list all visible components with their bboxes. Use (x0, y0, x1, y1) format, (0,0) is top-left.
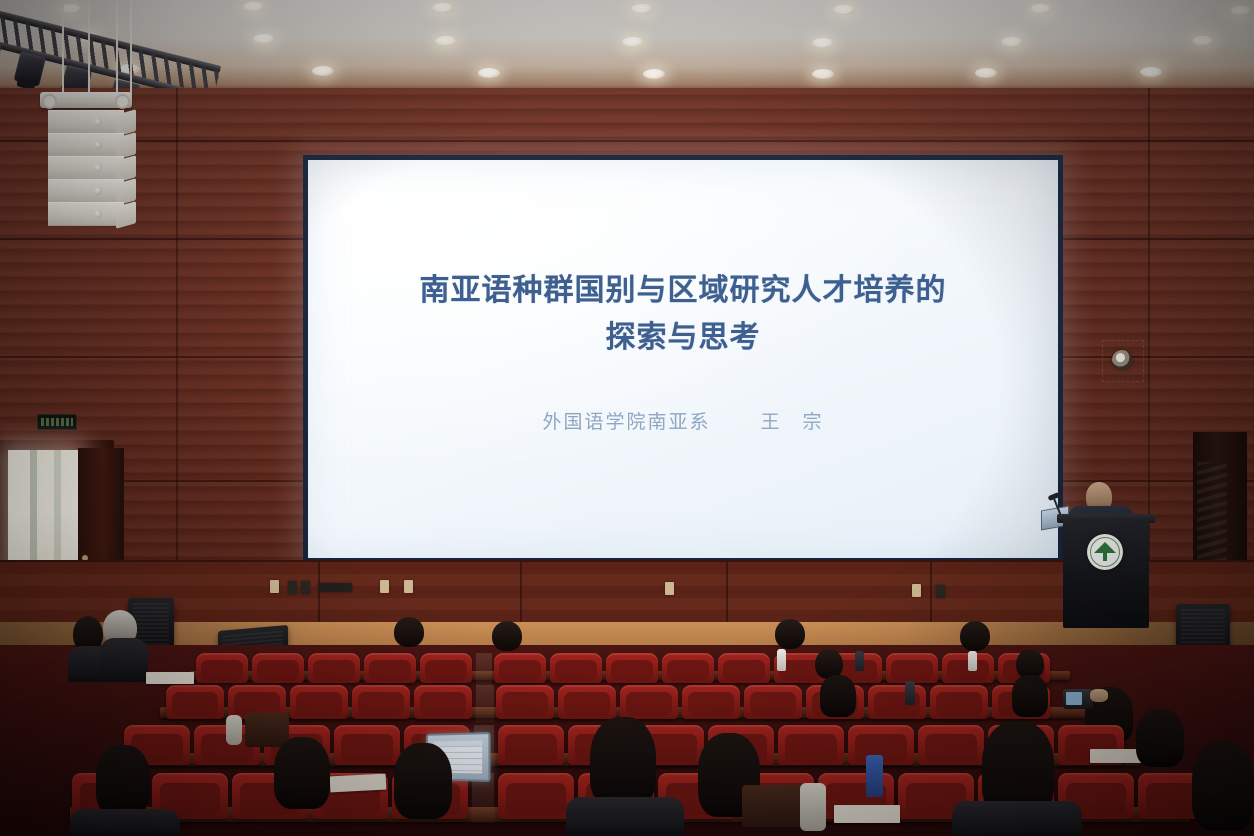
handheld-camera[interactable] (1063, 689, 1093, 709)
cloth-item (800, 783, 826, 831)
speaker-rigging-wire (88, 0, 90, 96)
wall-speaker-icon (1112, 350, 1132, 370)
theater-seat (496, 685, 554, 719)
handbag (245, 713, 289, 747)
theater-seat (420, 653, 472, 683)
aisle (476, 685, 494, 723)
audience-head (960, 621, 990, 651)
recessed-downlight (631, 4, 653, 14)
theater-seat (930, 685, 988, 719)
auditorium-photo: 南亚语种群国别与区域研究人才培养的 探索与思考 外国语学院南亚系 王 宗 (0, 0, 1254, 836)
dark-water-bottle (855, 651, 864, 671)
stage-light-fixture (14, 51, 46, 86)
white-water-bottle (968, 651, 977, 671)
exit-sign (37, 414, 77, 430)
wall-outlet (270, 580, 279, 593)
audience-body (566, 797, 684, 836)
audience-head (820, 675, 856, 717)
recessed-downlight (253, 34, 275, 44)
line-array-speaker (40, 92, 132, 227)
recessed-downlight (833, 5, 855, 15)
recessed-downlight (1192, 36, 1214, 46)
wall-outlet (288, 581, 297, 594)
theater-seat (886, 653, 938, 683)
theater-seat (498, 773, 574, 819)
theater-seat (334, 725, 400, 765)
theater-seat (778, 725, 844, 765)
recessed-downlight (1030, 4, 1052, 14)
audience-body (952, 801, 1082, 836)
theater-seat (550, 653, 602, 683)
audience-head (1192, 741, 1254, 831)
slide-subtitle-affiliation: 外国语学院南亚系 (542, 411, 710, 433)
recessed-downlight (1140, 67, 1162, 77)
theater-seat (662, 653, 714, 683)
recessed-downlight (622, 37, 644, 47)
slide-title-line-1: 南亚语种群国别与区域研究人才培养的 (308, 268, 1058, 315)
recessed-downlight (975, 68, 997, 78)
theater-seat (620, 685, 678, 719)
theater-seat (166, 685, 224, 719)
wall-outlet (936, 585, 945, 598)
presentation-slide: 南亚语种群国别与区域研究人才培养的 探索与思考 外国语学院南亚系 王 宗 (308, 160, 1058, 558)
audience-head (1136, 709, 1184, 767)
recessed-downlight (1001, 37, 1023, 47)
blue-water-bottle (866, 755, 883, 797)
audience-head (394, 617, 424, 647)
audience-head (394, 743, 452, 819)
theater-seat (498, 725, 564, 765)
theater-seat (308, 653, 360, 683)
handout-papers (146, 672, 194, 684)
recessed-downlight (1230, 6, 1252, 16)
slide-subtitle-presenter: 王 宗 (761, 411, 824, 433)
recessed-downlight (812, 38, 834, 48)
wall-outlet (380, 580, 389, 593)
recessed-downlight (312, 66, 334, 76)
theater-seat (718, 653, 770, 683)
theater-seat (352, 685, 410, 719)
slide-subtitle: 外国语学院南亚系 王 宗 (308, 407, 1058, 434)
speaker-rigging-wire (62, 0, 64, 96)
audience-head (590, 717, 656, 807)
aisle (476, 653, 492, 687)
speaker-rigging-wire (116, 0, 118, 96)
theater-seat (252, 653, 304, 683)
theater-seat (918, 725, 984, 765)
wall-outlet (301, 581, 310, 594)
projection-screen[interactable]: 南亚语种群国别与区域研究人才培养的 探索与思考 外国语学院南亚系 王 宗 (303, 155, 1063, 563)
recessed-downlight (243, 2, 265, 12)
wall-outlet (404, 580, 413, 593)
wall-plate (318, 583, 352, 592)
wall-outlet (912, 584, 921, 597)
slide-title-line-2: 探索与思考 (308, 315, 1058, 362)
recessed-downlight (432, 3, 454, 13)
audience-body (100, 638, 148, 682)
handbag (742, 785, 802, 827)
handout-papers (834, 805, 900, 823)
recessed-downlight (478, 68, 500, 78)
audience-head (492, 621, 522, 651)
handout-papers (330, 774, 387, 793)
theater-seat (868, 685, 926, 719)
cloth-item (226, 715, 242, 745)
speaker-rigging-wire (130, 0, 132, 96)
hand (1090, 689, 1108, 702)
theater-seat (494, 653, 546, 683)
theater-seat (364, 653, 416, 683)
audience-head (775, 619, 805, 649)
theater-seat (290, 685, 348, 719)
dark-water-bottle (905, 681, 915, 705)
recessed-downlight (435, 36, 457, 46)
audience-head (96, 745, 150, 815)
theater-seat (606, 653, 658, 683)
wall-outlet (665, 582, 674, 595)
theater-seat (682, 685, 740, 719)
theater-seat (744, 685, 802, 719)
recessed-downlight (643, 69, 665, 79)
theater-seat (414, 685, 472, 719)
audience-head (274, 737, 330, 809)
theater-seat (558, 685, 616, 719)
audience-body (70, 809, 180, 836)
university-tree-emblem (1087, 534, 1123, 570)
audience-head (1012, 675, 1048, 717)
white-water-bottle (777, 649, 786, 671)
recessed-downlight (812, 69, 834, 79)
theater-seat (196, 653, 248, 683)
